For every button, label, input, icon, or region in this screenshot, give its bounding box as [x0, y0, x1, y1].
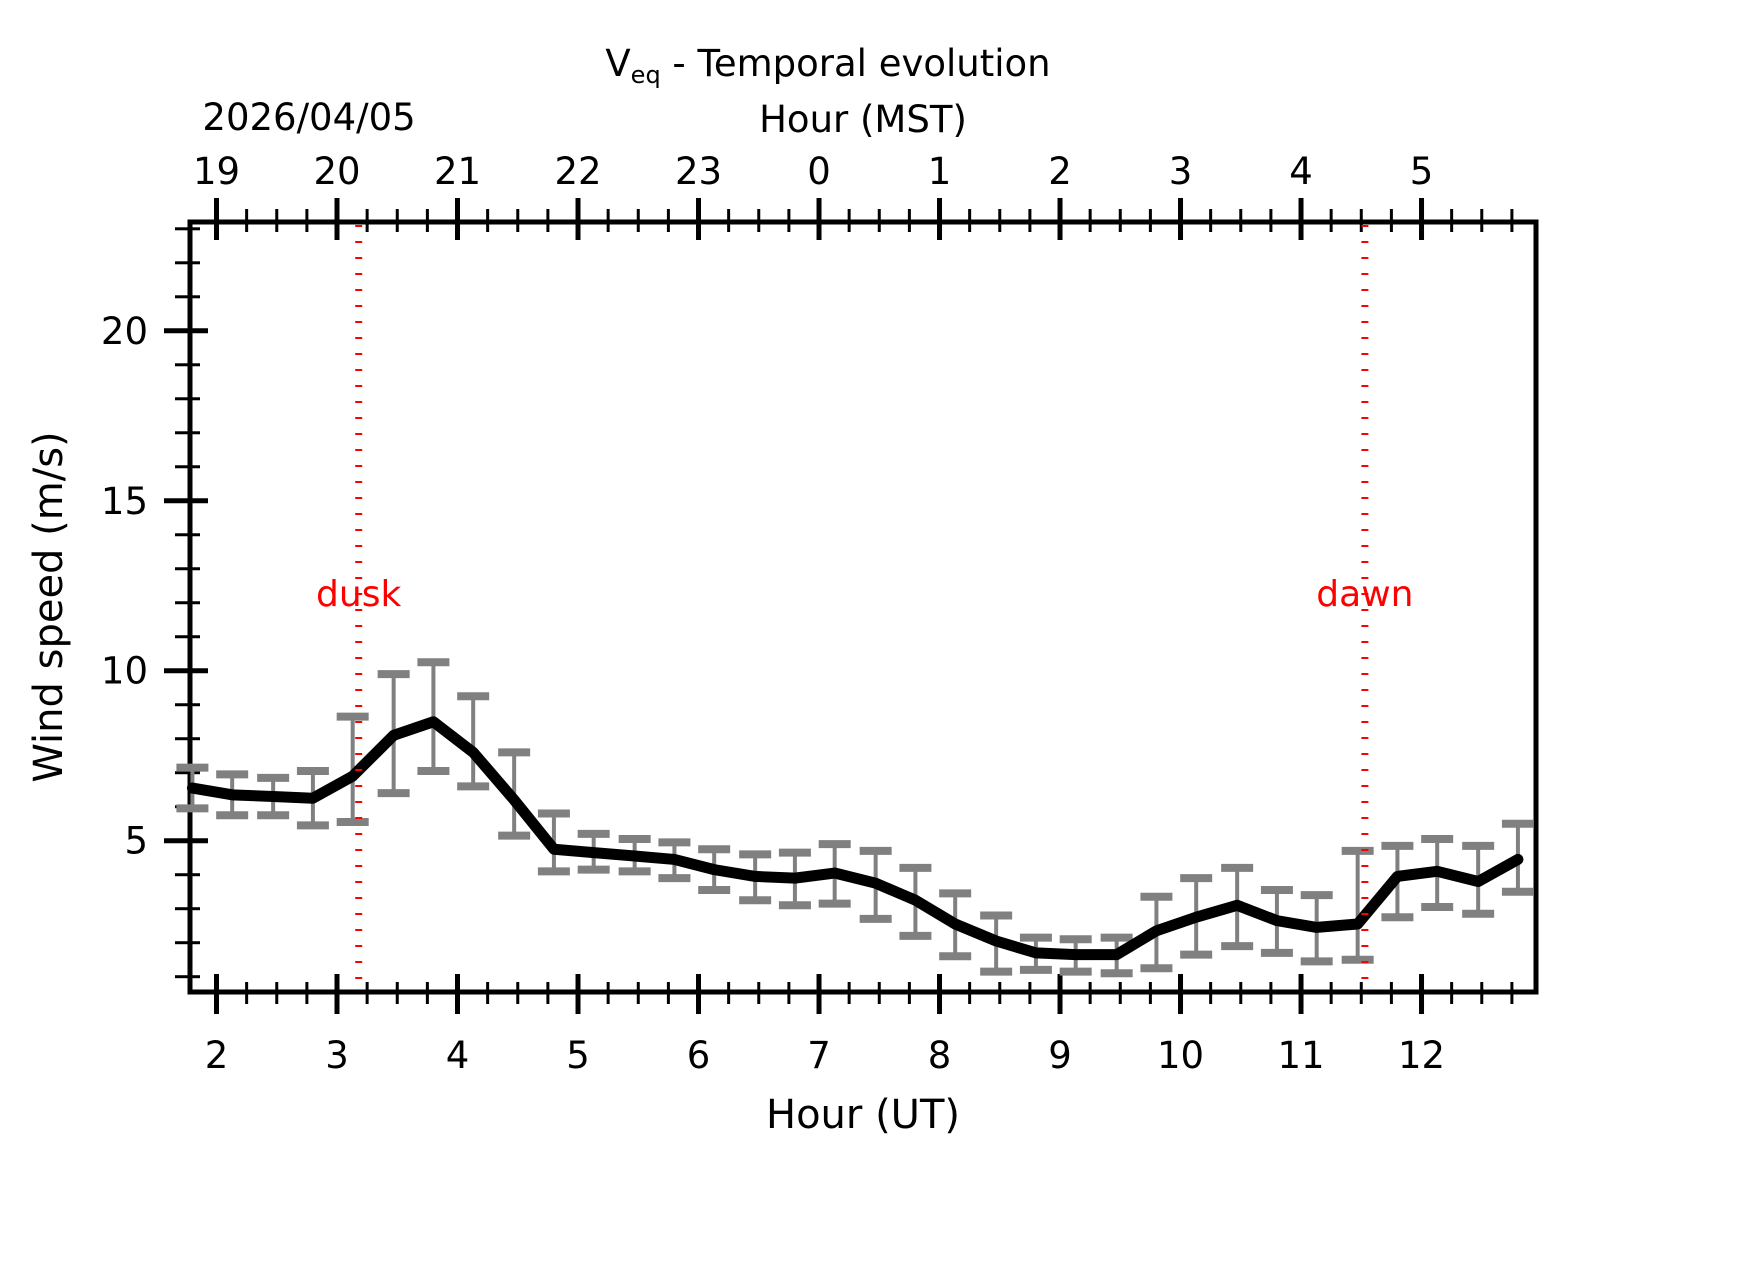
chart-figure: 23456789101112Hour (UT)1920212223012345H…	[0, 0, 1742, 1282]
bottom-tick-label: 5	[566, 1034, 590, 1077]
bottom-tick-label: 10	[1157, 1034, 1204, 1077]
data-series-line	[192, 722, 1518, 955]
date-label: 2026/04/05	[202, 96, 415, 139]
top-tick-label: 0	[807, 150, 831, 193]
chart-subtitle: Hour (MST)	[759, 98, 967, 141]
top-tick-label: 4	[1289, 150, 1313, 193]
annotation-label-dusk: dusk	[316, 574, 401, 615]
left-tick-label: 20	[101, 310, 148, 353]
bottom-tick-label: 4	[446, 1034, 470, 1077]
bottom-tick-label: 8	[928, 1034, 952, 1077]
top-tick-label: 1	[928, 150, 952, 193]
annotation-label-dawn: dawn	[1316, 574, 1413, 615]
top-tick-label: 3	[1169, 150, 1193, 193]
bottom-tick-label: 9	[1048, 1034, 1072, 1077]
bottom-tick-label: 11	[1277, 1034, 1324, 1077]
top-tick-label: 22	[554, 150, 601, 193]
bottom-tick-label: 7	[807, 1034, 831, 1077]
y-axis-label: Wind speed (m/s)	[26, 431, 72, 782]
bottom-tick-label: 12	[1398, 1034, 1445, 1077]
top-tick-label: 2	[1048, 150, 1072, 193]
chart-title: Veq - Temporal evolution	[605, 42, 1050, 89]
top-tick-label: 5	[1410, 150, 1434, 193]
top-tick-label: 20	[313, 150, 360, 193]
left-tick-label: 15	[101, 480, 148, 523]
top-tick-label: 23	[675, 150, 722, 193]
bottom-axis-label: Hour (UT)	[766, 1092, 960, 1138]
bottom-tick-label: 3	[325, 1034, 349, 1077]
bottom-tick-label: 6	[687, 1034, 711, 1077]
top-tick-label: 21	[434, 150, 481, 193]
left-tick-label: 10	[101, 650, 148, 693]
chart-canvas: 23456789101112Hour (UT)1920212223012345H…	[0, 0, 1742, 1282]
top-tick-label: 19	[193, 150, 240, 193]
bottom-tick-label: 2	[205, 1034, 229, 1077]
left-tick-label: 5	[124, 820, 148, 863]
